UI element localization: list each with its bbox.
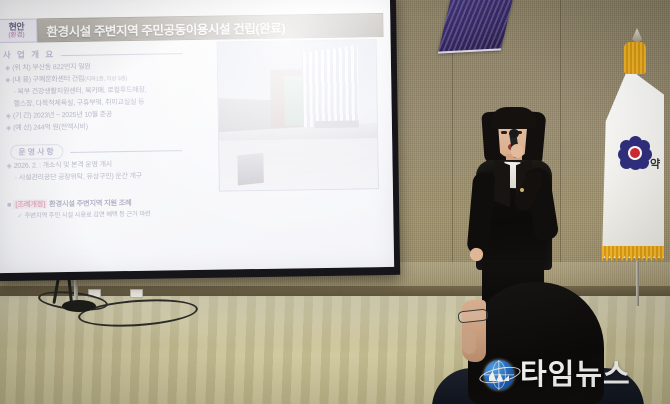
bullet-text: (예 산) 244억 원(전액시비) (13, 124, 88, 132)
presenter-eye (501, 131, 507, 134)
presenter-lapel (494, 159, 510, 207)
flag-emblem-text: 약 (646, 158, 662, 170)
bullet-text: (내 용) 구폐문화센터 건립 (12, 76, 84, 84)
photo-signboard (315, 120, 359, 128)
floor-outlet-plate (130, 289, 143, 298)
ordinance-bullet-list: ■[조례개정] 환경시설 주변지역 지원 조례 ✓주변지역 주민 시설 사용료 … (7, 196, 217, 223)
section-heading-overview: 사 업 개 요 (3, 48, 56, 61)
bullet-marker: ◈ (6, 125, 11, 132)
bullet-text: 북부 건강생활지원센터, 북카페, 로컬푸드매장, (17, 87, 146, 96)
check-marker: ✓ (17, 213, 22, 220)
bullet-text: 시설관리공단 공장위탁, 유상구민) 운간 개구 (19, 173, 142, 182)
bullet-note: (지하1층, 지상 3층) (84, 76, 127, 83)
badge-line-2: (환경) (8, 32, 24, 39)
slide-title-bar: 환경시설 주변지역 주민공동이용시설 건립(완료) (37, 13, 383, 42)
bullet-marker: ◈ (6, 163, 11, 170)
globe-pulse-icon (482, 358, 516, 392)
page-title: 환경시설 주변지역 주민공동이용시설 건립(완료) (46, 17, 285, 40)
presentation-slide: 현안 (환경) 환경시설 주변지역 주민공동이용시설 건립(완료) 사 업 개 … (0, 13, 390, 269)
bullet-text: 환경시설 주변지역 지원 조례 (49, 198, 131, 208)
bullet-text: 2026. 2. : 개소식 및 본격 운영 개시 (14, 161, 112, 170)
ceremonial-flag: 약 (596, 24, 666, 304)
bullet-text: (위 치) 부산동 822번지 일원 (12, 64, 91, 72)
list-item: -시설관리공단 공장위탁, 유상구민) 운간 개구 (7, 170, 217, 185)
microphone-head-icon (509, 129, 519, 138)
slide-title-badge: 현안 (환경) (0, 18, 38, 43)
bullet-marker: ■ (7, 200, 11, 209)
operations-bullet-list: ◈2026. 2. : 개소식 및 본격 운영 개시 -시설관리공단 공장위탁,… (6, 158, 216, 185)
section-rule (70, 150, 182, 153)
photo-street-object (237, 153, 263, 186)
badge-line-1: 현안 (8, 22, 24, 31)
wall-seam (560, 0, 561, 300)
photo-main-building (302, 45, 359, 131)
bullet-marker: ◈ (5, 77, 10, 84)
flag-tassel (624, 42, 646, 74)
bullet-marker: - (13, 89, 15, 96)
audience-ear (462, 332, 476, 354)
bullet-text: 헬스장, 다목적체육실, 구휴부엌, 취미교실실 등 (14, 99, 145, 108)
presenter (468, 108, 560, 308)
ordinance-highlight: [조례개정] (13, 199, 47, 209)
slide-photo (217, 39, 379, 191)
bullet-text: (기 간) 2023년 ~ 2025년 10월 준공 (13, 111, 112, 120)
slide-title-row: 현안 (환경) 환경시설 주변지역 주민공동이용시설 건립(완료) (0, 13, 384, 43)
flag-fringe (602, 246, 664, 262)
presenter-lapel-pin (520, 188, 524, 192)
emblem-core (628, 146, 642, 160)
section-heading-operations: 운영사항 (10, 144, 64, 160)
bullet-marker: ◈ (5, 65, 10, 72)
projector-stand-base (62, 300, 96, 312)
list-item: ◈(예 산) 244억 원(전액시비) (6, 120, 216, 135)
section-rule (61, 53, 183, 56)
photo-scene: 현안 (환경) 환경시설 주변지역 주민공동이용시설 건립(완료) 사 업 개 … (0, 0, 670, 404)
presenter-hair-front (490, 107, 537, 129)
bullet-text: 주변지역 주민 시설 사용료 감면 혜택 등 근거 마련 (24, 211, 150, 220)
overview-bullet-list: ◈(위 치) 부산동 822번지 일원 ◈(내 용) 구폐문화센터 건립(지하1… (5, 60, 216, 135)
bullet-marker: ◈ (6, 113, 11, 120)
watermark-brand: 타임뉴스 (520, 361, 631, 390)
list-item: ✓주변지역 주민 시설 사용료 감면 혜택 등 근거 마련 (7, 208, 217, 222)
bullet-marker: - (15, 175, 17, 182)
watermark: 타임뉴스 (482, 358, 631, 392)
projector-screen: 현안 (환경) 환경시설 주변지역 주민공동이용시설 건립(완료) 사 업 개 … (0, 0, 394, 273)
